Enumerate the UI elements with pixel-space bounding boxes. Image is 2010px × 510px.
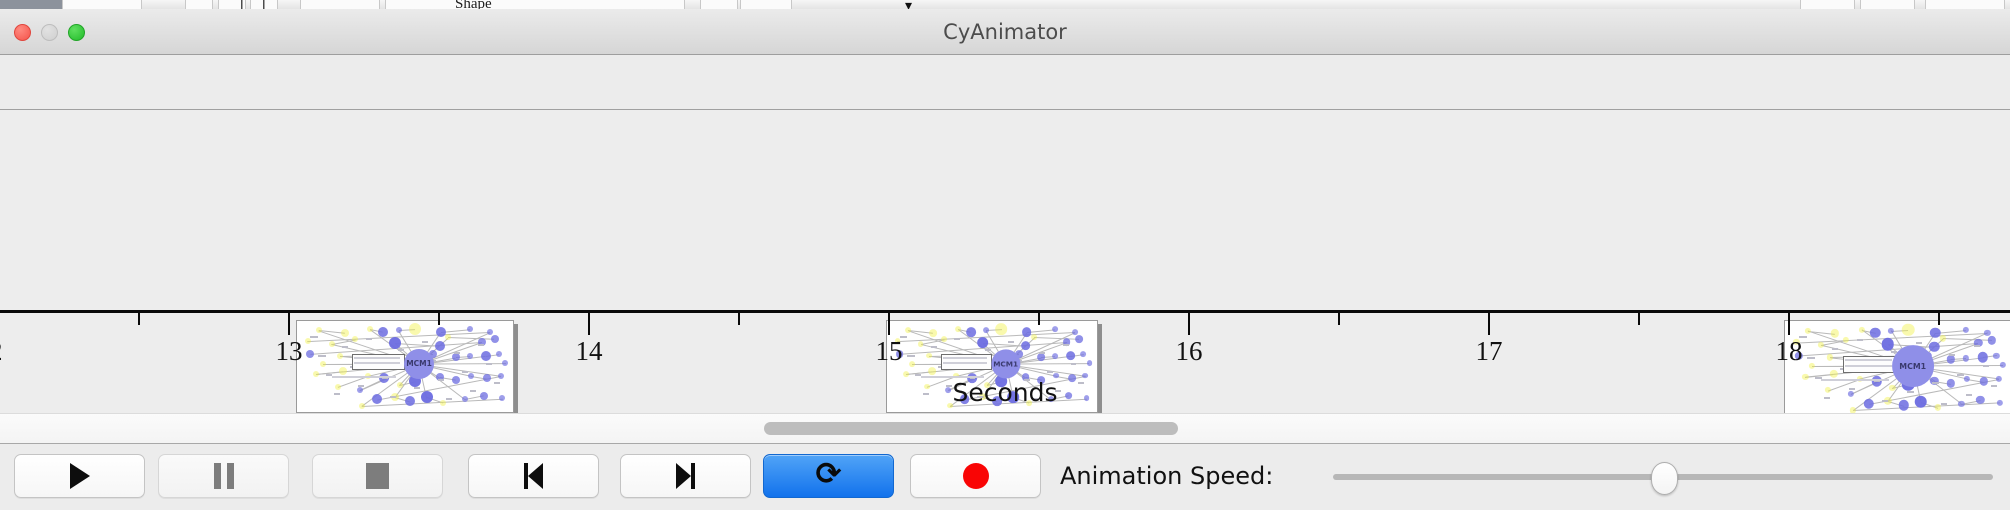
network-node-label <box>1857 339 1863 341</box>
network-node <box>1988 336 1996 344</box>
axis-tick-label: 16 <box>1176 336 1203 367</box>
axis-tick-major <box>888 313 890 335</box>
network-hub-node: MCM1 <box>404 349 434 379</box>
network-node <box>396 327 402 333</box>
network-node <box>903 371 909 377</box>
network-node <box>983 327 989 333</box>
network-node <box>1831 329 1839 337</box>
axis-tick-minor <box>738 313 740 325</box>
network-hub-label: MCM1 <box>1899 362 1926 371</box>
axis-tick-major <box>1188 313 1190 335</box>
network-node <box>452 353 460 361</box>
record-icon <box>963 463 989 489</box>
record-button[interactable] <box>910 454 1041 498</box>
network-node <box>306 350 314 358</box>
pause-icon <box>214 463 234 489</box>
network-node-label <box>454 352 460 354</box>
network-node <box>1940 335 1946 341</box>
minimize-button-icon[interactable] <box>41 24 58 41</box>
network-node-label <box>1071 363 1077 365</box>
network-hub-label: MCM1 <box>993 359 1018 368</box>
title-bar: CyAnimator <box>0 9 2010 55</box>
network-node-label <box>342 346 348 348</box>
network-node <box>313 371 319 377</box>
loop-icon: ⟳ <box>816 459 842 490</box>
axis-tick-label: 13 <box>276 336 303 367</box>
network-node <box>1075 335 1083 343</box>
network-node-label <box>1949 354 1955 356</box>
network-node-label <box>909 355 915 357</box>
timeline-scrollbar[interactable] <box>0 413 2010 443</box>
axis-title: Seconds <box>0 378 2010 407</box>
network-hub-label: MCM1 <box>406 359 432 368</box>
network-node <box>926 353 932 359</box>
network-node <box>1809 363 1815 369</box>
next-frame-button[interactable] <box>620 454 751 498</box>
background-window-sidebar <box>0 0 62 9</box>
network-node <box>966 327 976 337</box>
network-node <box>1870 327 1880 337</box>
axis-tick-minor <box>1338 313 1340 325</box>
timeline-panel[interactable]: MCM1MCM1MCM1 12131415161718 Seconds <box>0 110 2010 413</box>
pause-button[interactable] <box>158 454 289 498</box>
network-node-label <box>1039 352 1045 354</box>
network-node-label <box>312 336 318 338</box>
network-node <box>996 323 1008 335</box>
page-title: CyAnimator <box>0 9 2010 55</box>
axis-tick-label: 15 <box>876 336 903 367</box>
axis-tick-minor <box>138 313 140 325</box>
traffic-lights <box>14 24 85 41</box>
network-node <box>1827 354 1833 360</box>
network-node <box>435 341 445 351</box>
network-node <box>909 361 915 367</box>
network-node <box>305 338 311 344</box>
network-node <box>445 334 451 340</box>
timeline-scrollbar-thumb[interactable] <box>764 422 1178 435</box>
skip-previous-icon <box>524 463 543 489</box>
network-node <box>339 367 347 375</box>
maximize-button-icon[interactable] <box>68 24 85 41</box>
network-node <box>1022 327 1032 337</box>
network-node <box>1818 342 1824 348</box>
frame-toolbar: ✚ Clear All Frames <box>0 56 2010 110</box>
network-node-label <box>422 341 428 343</box>
network-node <box>977 337 989 349</box>
network-node <box>941 336 947 342</box>
network-node <box>409 323 421 335</box>
network-node <box>467 353 473 359</box>
network-node <box>1984 329 1990 335</box>
axis-tick-minor <box>438 313 440 325</box>
network-node <box>352 336 358 342</box>
axis-tick-major <box>288 313 290 335</box>
axis-tick-label: 18 <box>1776 336 1803 367</box>
network-node-label <box>1063 344 1069 346</box>
loop-button[interactable]: ⟳ <box>763 454 894 498</box>
network-node-label <box>320 355 326 357</box>
network-node-label <box>398 349 404 351</box>
network-node <box>1072 329 1078 335</box>
network-node <box>502 360 508 366</box>
play-icon <box>70 463 90 489</box>
network-node-label <box>1832 348 1838 350</box>
playback-control-bar: ⟳ Animation Speed: <box>0 443 2010 510</box>
animation-speed-label: Animation Speed: <box>1060 454 1273 498</box>
network-hub-node: MCM1 <box>991 349 1020 378</box>
network-node <box>1978 352 1988 362</box>
network-node <box>491 335 499 343</box>
axis-tick-minor <box>1938 313 1940 325</box>
network-node <box>1052 326 1058 332</box>
axis-tick-label: 12 <box>0 336 3 367</box>
network-node-label <box>1974 345 1980 347</box>
cyanimator-window: | | Shape ▾ CyAnimator ✚ Clear All Frame… <box>0 0 2010 510</box>
network-node-label <box>931 346 937 348</box>
network-node <box>1052 354 1058 360</box>
network-node <box>1080 351 1086 357</box>
network-node <box>1021 341 1031 351</box>
axis-tick-minor <box>1638 313 1640 325</box>
network-node-label <box>486 363 492 365</box>
network-node <box>1843 337 1849 343</box>
network-node <box>1087 360 1093 366</box>
play-button[interactable] <box>14 454 145 498</box>
network-node <box>1902 323 1915 336</box>
axis-tick-label: 17 <box>1476 336 1503 367</box>
network-node <box>955 326 961 332</box>
network-node <box>329 341 335 347</box>
network-node <box>341 329 349 337</box>
axis-tick-major <box>588 313 590 335</box>
network-node <box>928 367 936 375</box>
stop-icon <box>366 463 389 489</box>
close-button-icon[interactable] <box>14 24 31 41</box>
skip-next-icon <box>676 463 695 489</box>
network-node <box>1829 370 1837 378</box>
network-node-label <box>1809 357 1815 359</box>
network-node-label <box>1916 342 1922 344</box>
slider-thumb[interactable] <box>1651 462 1678 495</box>
network-node-label <box>366 338 372 340</box>
network-node <box>918 341 924 347</box>
network-node <box>481 351 491 361</box>
network-node <box>1066 351 1076 361</box>
network-node <box>2000 362 2006 368</box>
network-node <box>1882 338 1895 351</box>
network-node <box>1947 355 1955 363</box>
previous-frame-button[interactable] <box>468 454 599 498</box>
network-node <box>905 327 911 333</box>
axis-tick-minor <box>1038 313 1040 325</box>
network-node-label <box>1008 341 1014 343</box>
network-node-label <box>1047 371 1053 373</box>
network-node <box>1031 334 1037 340</box>
network-node <box>929 329 937 337</box>
network-node <box>1963 326 1969 332</box>
network-node <box>496 351 502 357</box>
network-node-label <box>462 371 468 373</box>
network-node-label <box>985 349 991 351</box>
network-node <box>316 327 322 333</box>
network-node <box>467 326 473 332</box>
network-node <box>378 327 388 337</box>
network-node <box>436 327 446 337</box>
network-node <box>320 361 326 367</box>
network-node <box>487 329 493 335</box>
network-node <box>1804 327 1810 333</box>
network-node <box>1929 342 1939 352</box>
network-node-label <box>1957 374 1963 376</box>
timeline-axis <box>0 310 2010 313</box>
stop-button[interactable] <box>312 454 443 498</box>
axis-tick-label: 14 <box>576 336 603 367</box>
axis-tick-major <box>1788 313 1790 335</box>
network-node <box>1037 354 1045 362</box>
network-node <box>367 326 373 332</box>
network-node <box>389 337 401 349</box>
animation-speed-slider[interactable] <box>1333 454 1993 498</box>
network-node <box>1963 355 1969 361</box>
network-node <box>337 353 343 359</box>
network-node-label <box>1983 365 1989 367</box>
network-node <box>1993 352 1999 358</box>
network-node-label <box>954 338 960 340</box>
axis-tick-major <box>1488 313 1490 335</box>
network-node-label <box>478 344 484 346</box>
